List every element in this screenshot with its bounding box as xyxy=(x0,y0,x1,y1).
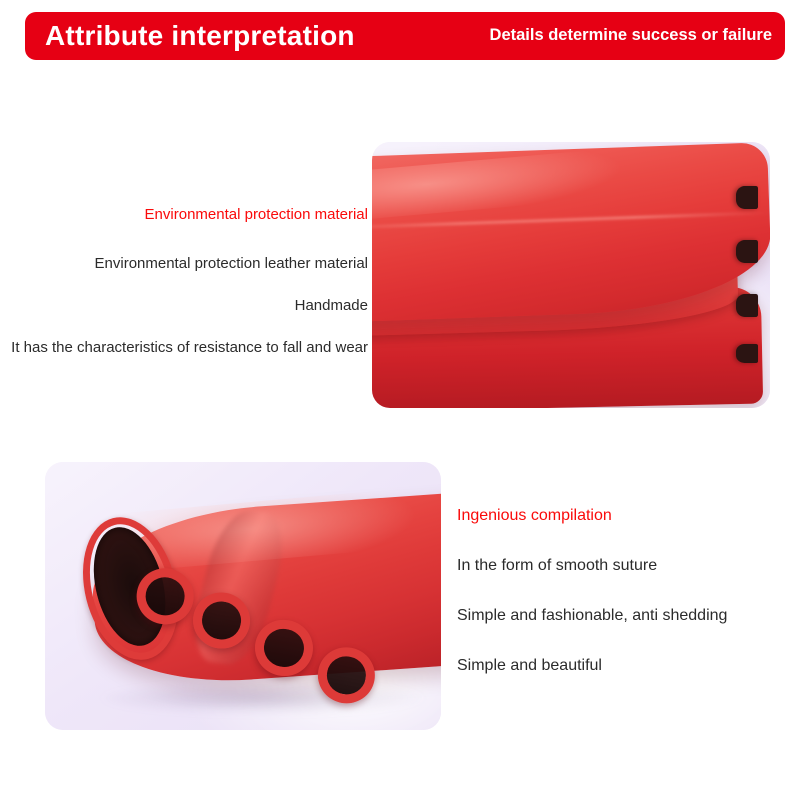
clutch-loop-edge xyxy=(718,174,766,381)
page-title: Attribute interpretation xyxy=(45,20,355,52)
feature-heading: Ingenious compilation xyxy=(457,506,787,526)
stitch-loop xyxy=(251,615,318,681)
feature-block-ingenious-compilation: Ingenious compilation In the form of smo… xyxy=(457,506,787,676)
stitch-loop xyxy=(313,642,380,708)
feature-line: Environmental protection leather materia… xyxy=(0,254,368,274)
feature-heading: Environmental protection material xyxy=(0,205,368,225)
feature-line: Simple and beautiful xyxy=(457,656,787,676)
feature-block-environmental-protection: Environmental protection material Enviro… xyxy=(0,205,368,358)
product-photo-rolled-leather xyxy=(45,462,441,730)
header-subtitle: Details determine success or failure xyxy=(490,26,772,45)
loop-notch xyxy=(736,344,758,363)
feature-line: It has the characteristics of resistance… xyxy=(0,338,368,358)
clutch-highlight xyxy=(372,143,672,223)
header-banner: Attribute interpretation Details determi… xyxy=(25,12,785,60)
feature-line: Handmade xyxy=(0,296,368,316)
stitch-loop xyxy=(132,563,199,629)
loop-notch xyxy=(736,186,758,209)
product-photo-clutch xyxy=(372,142,770,408)
stitch-loop xyxy=(189,588,256,654)
loop-notch xyxy=(736,240,758,263)
loop-notch xyxy=(736,294,758,317)
feature-line: In the form of smooth suture xyxy=(457,556,787,576)
feature-line: Simple and fashionable, anti shedding xyxy=(457,606,787,626)
